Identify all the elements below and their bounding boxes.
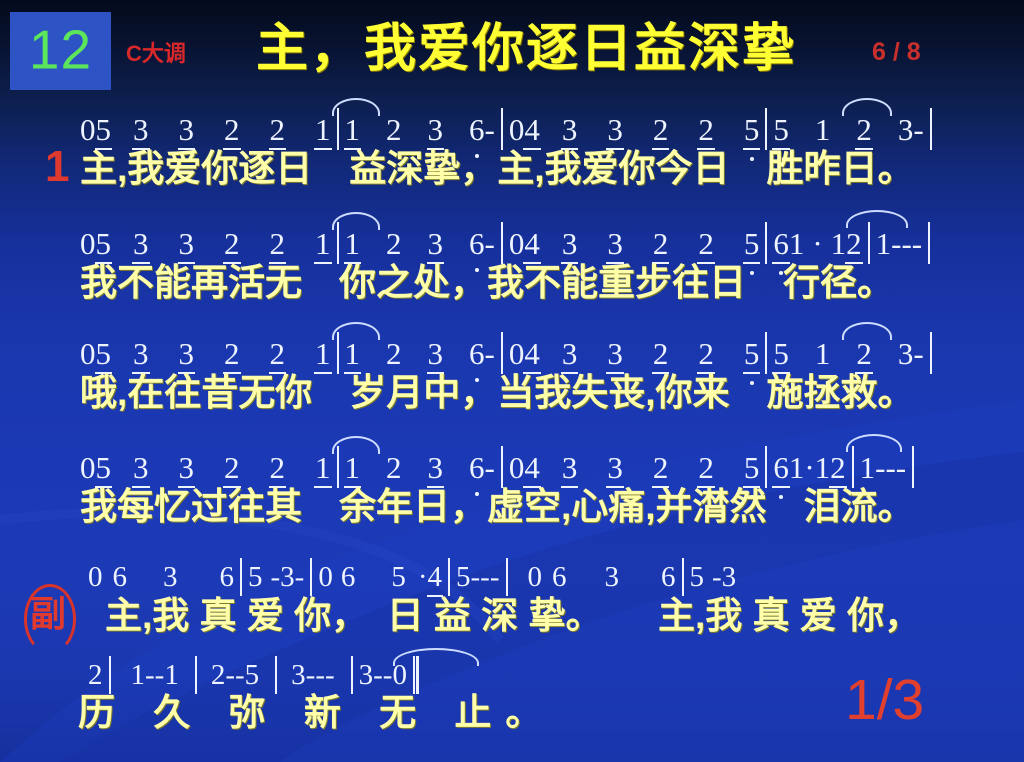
lyrics-line-2: 我不能再活无 你之处，我不能重步往日 行径。 (80, 264, 980, 301)
time-signature: 6 / 8 (872, 40, 921, 65)
lyrics-line-chorus-2: 历 久 弥 新 无 止。 (78, 694, 978, 731)
page-indicator: 1/3 (845, 672, 924, 729)
key-signature: C大调 (126, 43, 186, 65)
chorus-marker: 副 (24, 592, 72, 644)
lyrics-line-4: 我每忆过往其 余年日，虚空,心痛,并潸然 泪流。 (80, 488, 980, 525)
verse-marker-1: 1 (45, 145, 69, 189)
chorus-marker-label: 副 (24, 596, 72, 632)
page-title: 主，我爱你逐日益深挚 (256, 22, 796, 77)
lyrics-line-chorus-1: 主,我 真 爱 你， 日 益 深 挚。 主,我 真 爱 你， (105, 597, 1005, 634)
lyrics-line-1: 主,我爱你逐日 益深挚，主,我爱你今日 胜昨日。 (80, 150, 980, 187)
hymn-slide: 12 C大调 主，我爱你逐日益深挚 6 / 8 1 05332211236-04… (0, 0, 1024, 762)
hymn-number: 12 (10, 22, 111, 77)
slide-header: 12 C大调 主，我爱你逐日益深挚 6 / 8 (0, 0, 1024, 100)
lyrics-line-3: 哦,在往昔无你 岁月中，当我失丧,你来 施拯救。 (80, 374, 980, 411)
hymn-number-box: 12 (10, 12, 111, 90)
